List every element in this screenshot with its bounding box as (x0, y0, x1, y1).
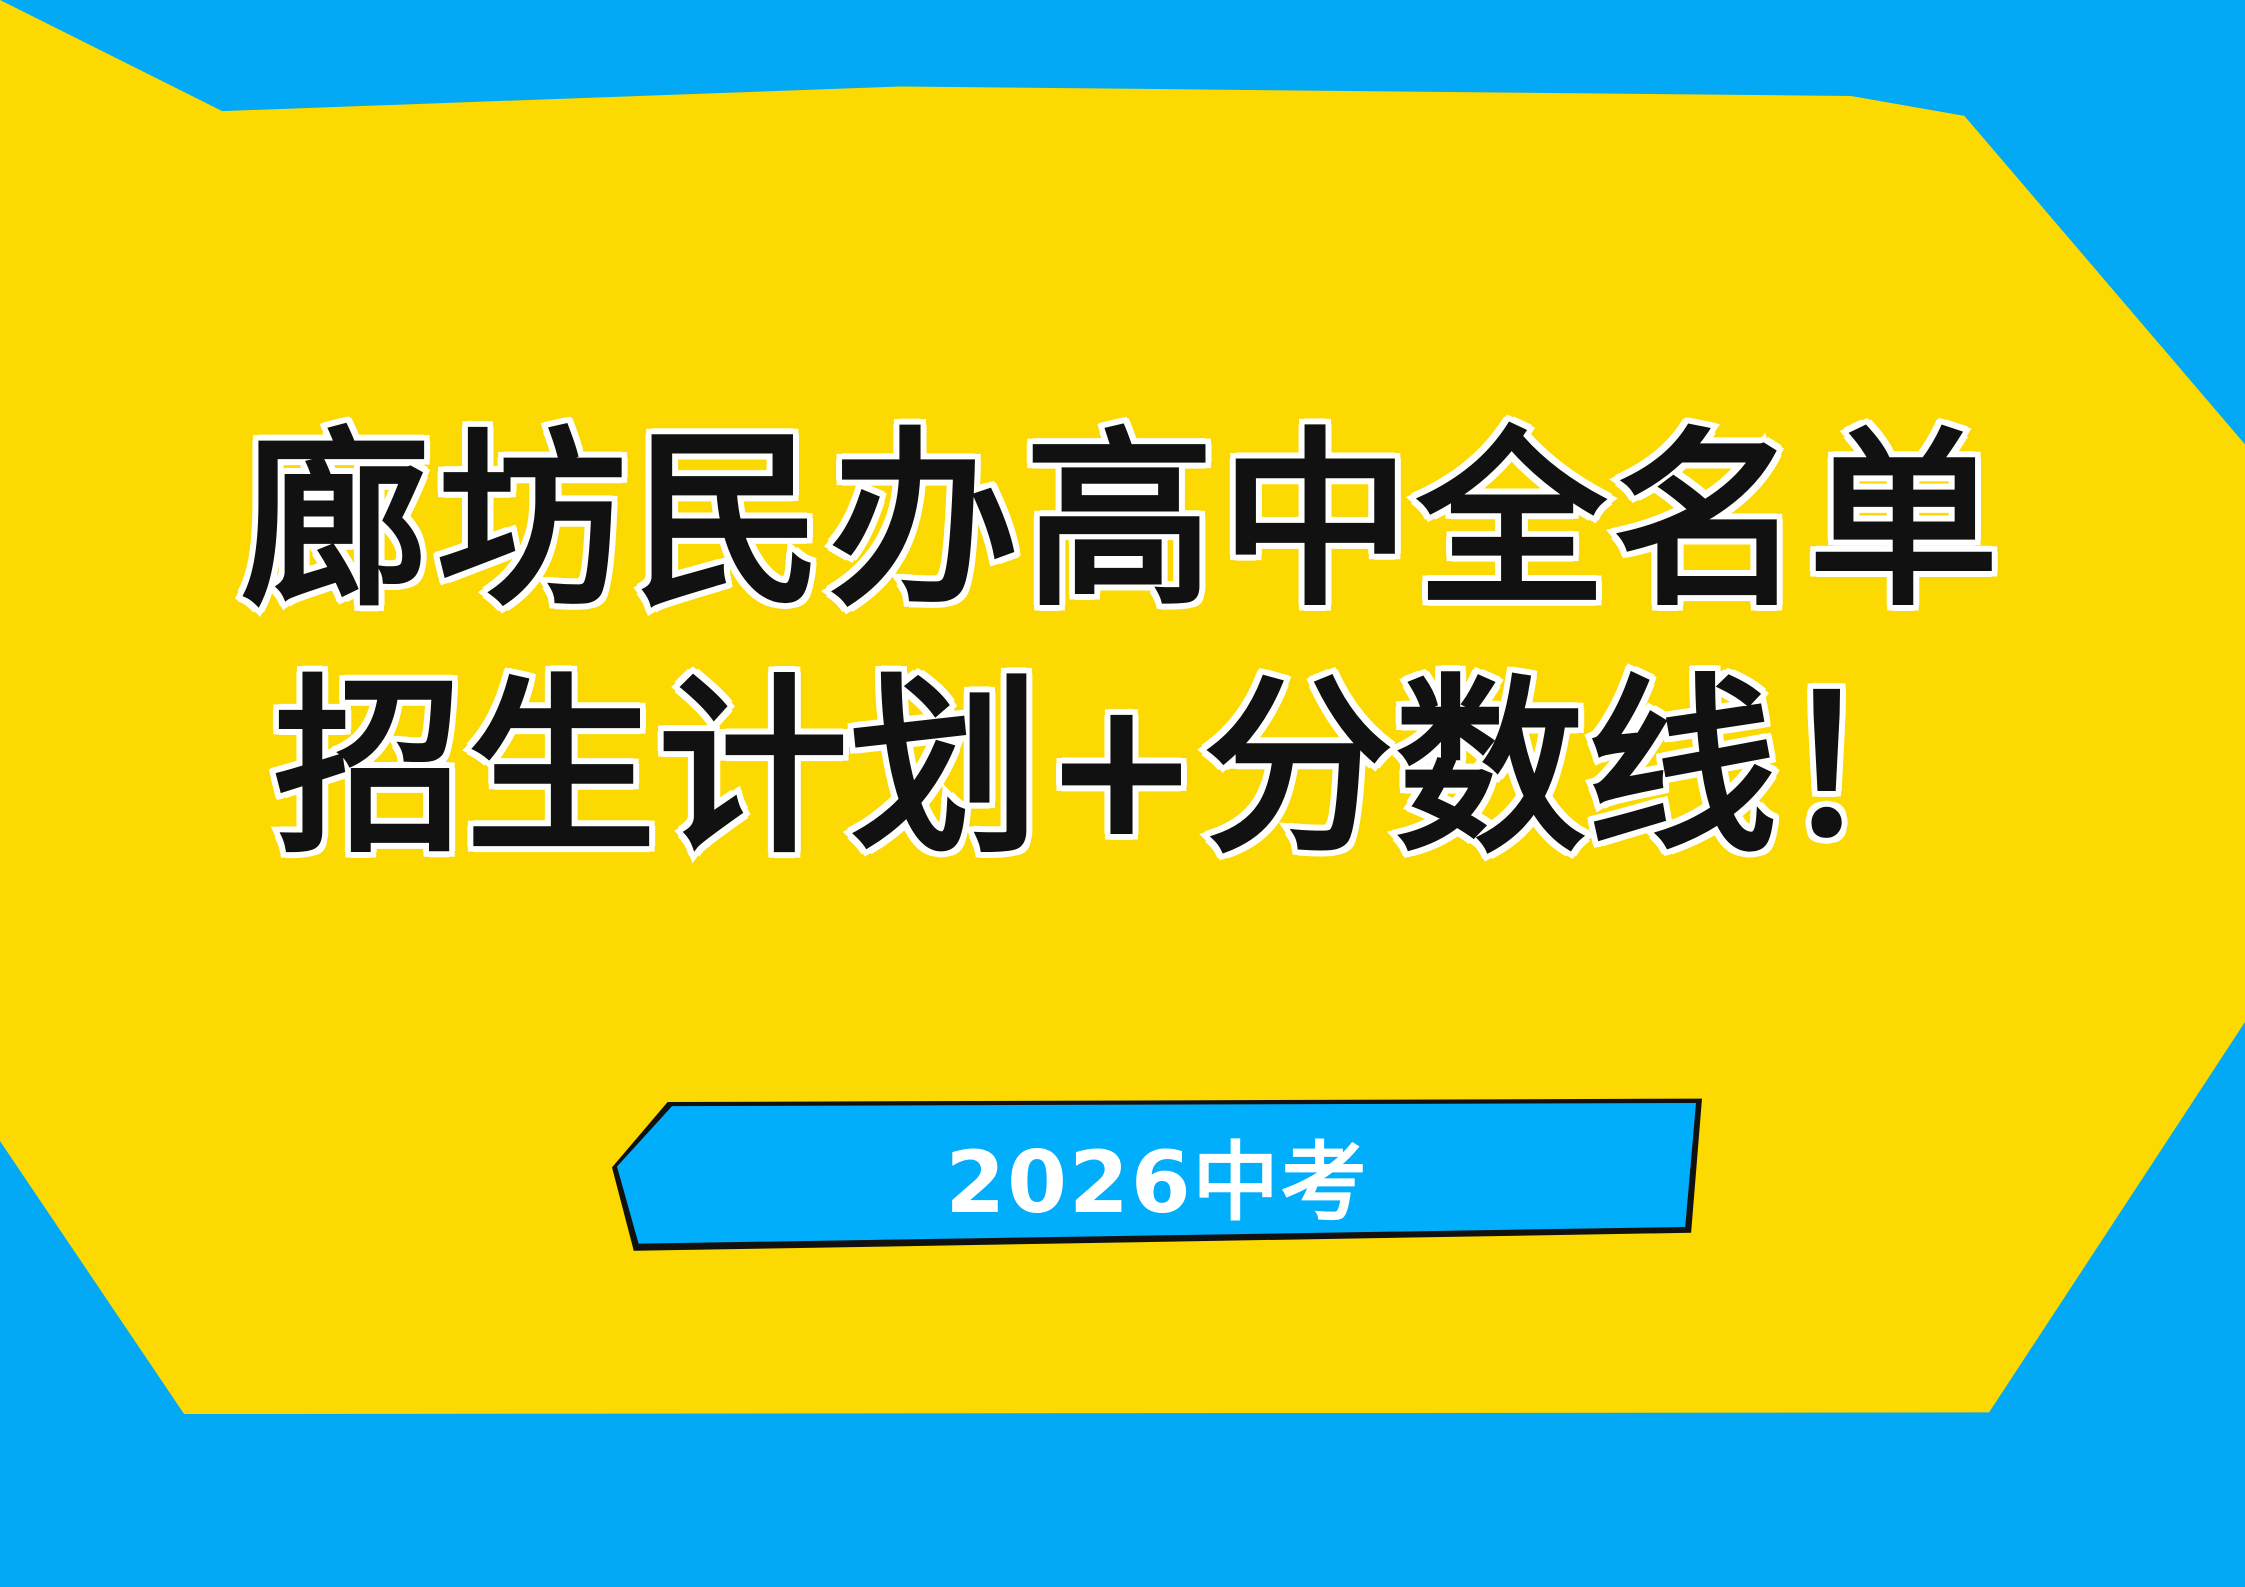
year-badge: 2026中考 (612, 1090, 1702, 1262)
poster-canvas: 廊坊民办高中全名单 招生计划+分数线！ 2026中考 (0, 0, 2245, 1587)
yellow-polygon-shape (0, 0, 2245, 1587)
badge-label: 2026中考 (612, 1090, 1702, 1262)
